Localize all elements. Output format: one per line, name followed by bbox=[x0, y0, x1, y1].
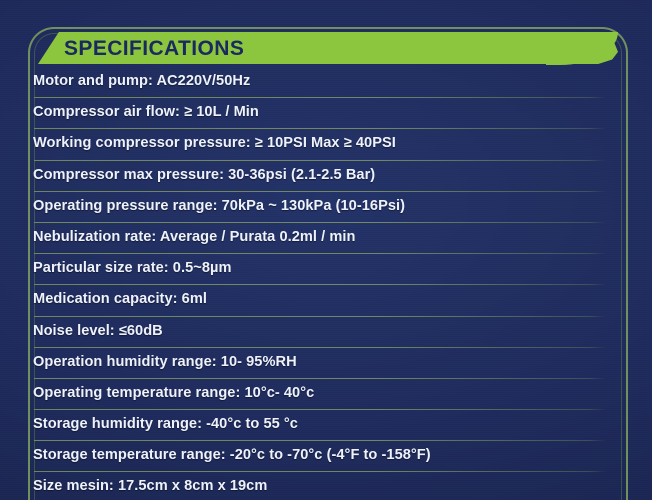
spec-row: Nebulization rate: Average / Purata 0.2m… bbox=[0, 222, 652, 253]
spec-row-label: Compressor air flow: ≥ 10L / Min bbox=[33, 97, 259, 128]
spec-row-label: Working compressor pressure: ≥ 10PSI Max… bbox=[33, 128, 396, 159]
spec-row-label: Nebulization rate: Average / Purata 0.2m… bbox=[33, 222, 355, 253]
spec-row: Working compressor pressure: ≥ 10PSI Max… bbox=[0, 128, 652, 159]
spec-row: Storage temperature range: -20°c to -70°… bbox=[0, 440, 652, 471]
specifications-card: SPECIFICATIONS Motor and pump: AC220V/50… bbox=[0, 0, 652, 500]
spec-row-label: Medication capacity: 6ml bbox=[33, 284, 207, 315]
spec-row: Particular size rate: 0.5~8µm bbox=[0, 253, 652, 284]
spec-row: Operating temperature range: 10°c- 40°c bbox=[0, 378, 652, 409]
spec-row: Noise level: ≤60dB bbox=[0, 316, 652, 347]
spec-row-label: Noise level: ≤60dB bbox=[33, 316, 163, 347]
page-title: SPECIFICATIONS bbox=[64, 33, 244, 64]
spec-row-label: Operating temperature range: 10°c- 40°c bbox=[33, 378, 314, 409]
spec-row: Motor and pump: AC220V/50Hz bbox=[0, 66, 652, 97]
spec-row-label: Particular size rate: 0.5~8µm bbox=[33, 253, 231, 284]
spec-row-label: Storage temperature range: -20°c to -70°… bbox=[33, 440, 431, 471]
spec-row: Storage humidity range: -40°c to 55 °c bbox=[0, 409, 652, 440]
spec-row: Compressor max pressure: 30-36psi (2.1-2… bbox=[0, 160, 652, 191]
spec-row: Compressor air flow: ≥ 10L / Min bbox=[0, 97, 652, 128]
spec-row: Operation humidity range: 10- 95%RH bbox=[0, 347, 652, 378]
spec-row: Operating pressure range: 70kPa ~ 130kPa… bbox=[0, 191, 652, 222]
spec-row-label: Compressor max pressure: 30-36psi (2.1-2… bbox=[33, 160, 375, 191]
spec-row-label: Motor and pump: AC220V/50Hz bbox=[33, 66, 250, 97]
spec-row-label: Operation humidity range: 10- 95%RH bbox=[33, 347, 297, 378]
spec-row-label: Storage humidity range: -40°c to 55 °c bbox=[33, 409, 298, 440]
spec-row: Size mesin: 17.5cm x 8cm x 19cm bbox=[0, 471, 652, 500]
spec-row: Medication capacity: 6ml bbox=[0, 284, 652, 315]
spec-row-label: Operating pressure range: 70kPa ~ 130kPa… bbox=[33, 191, 405, 222]
spec-row-label: Size mesin: 17.5cm x 8cm x 19cm bbox=[33, 471, 267, 500]
specifications-list: Motor and pump: AC220V/50HzCompressor ai… bbox=[0, 66, 652, 500]
